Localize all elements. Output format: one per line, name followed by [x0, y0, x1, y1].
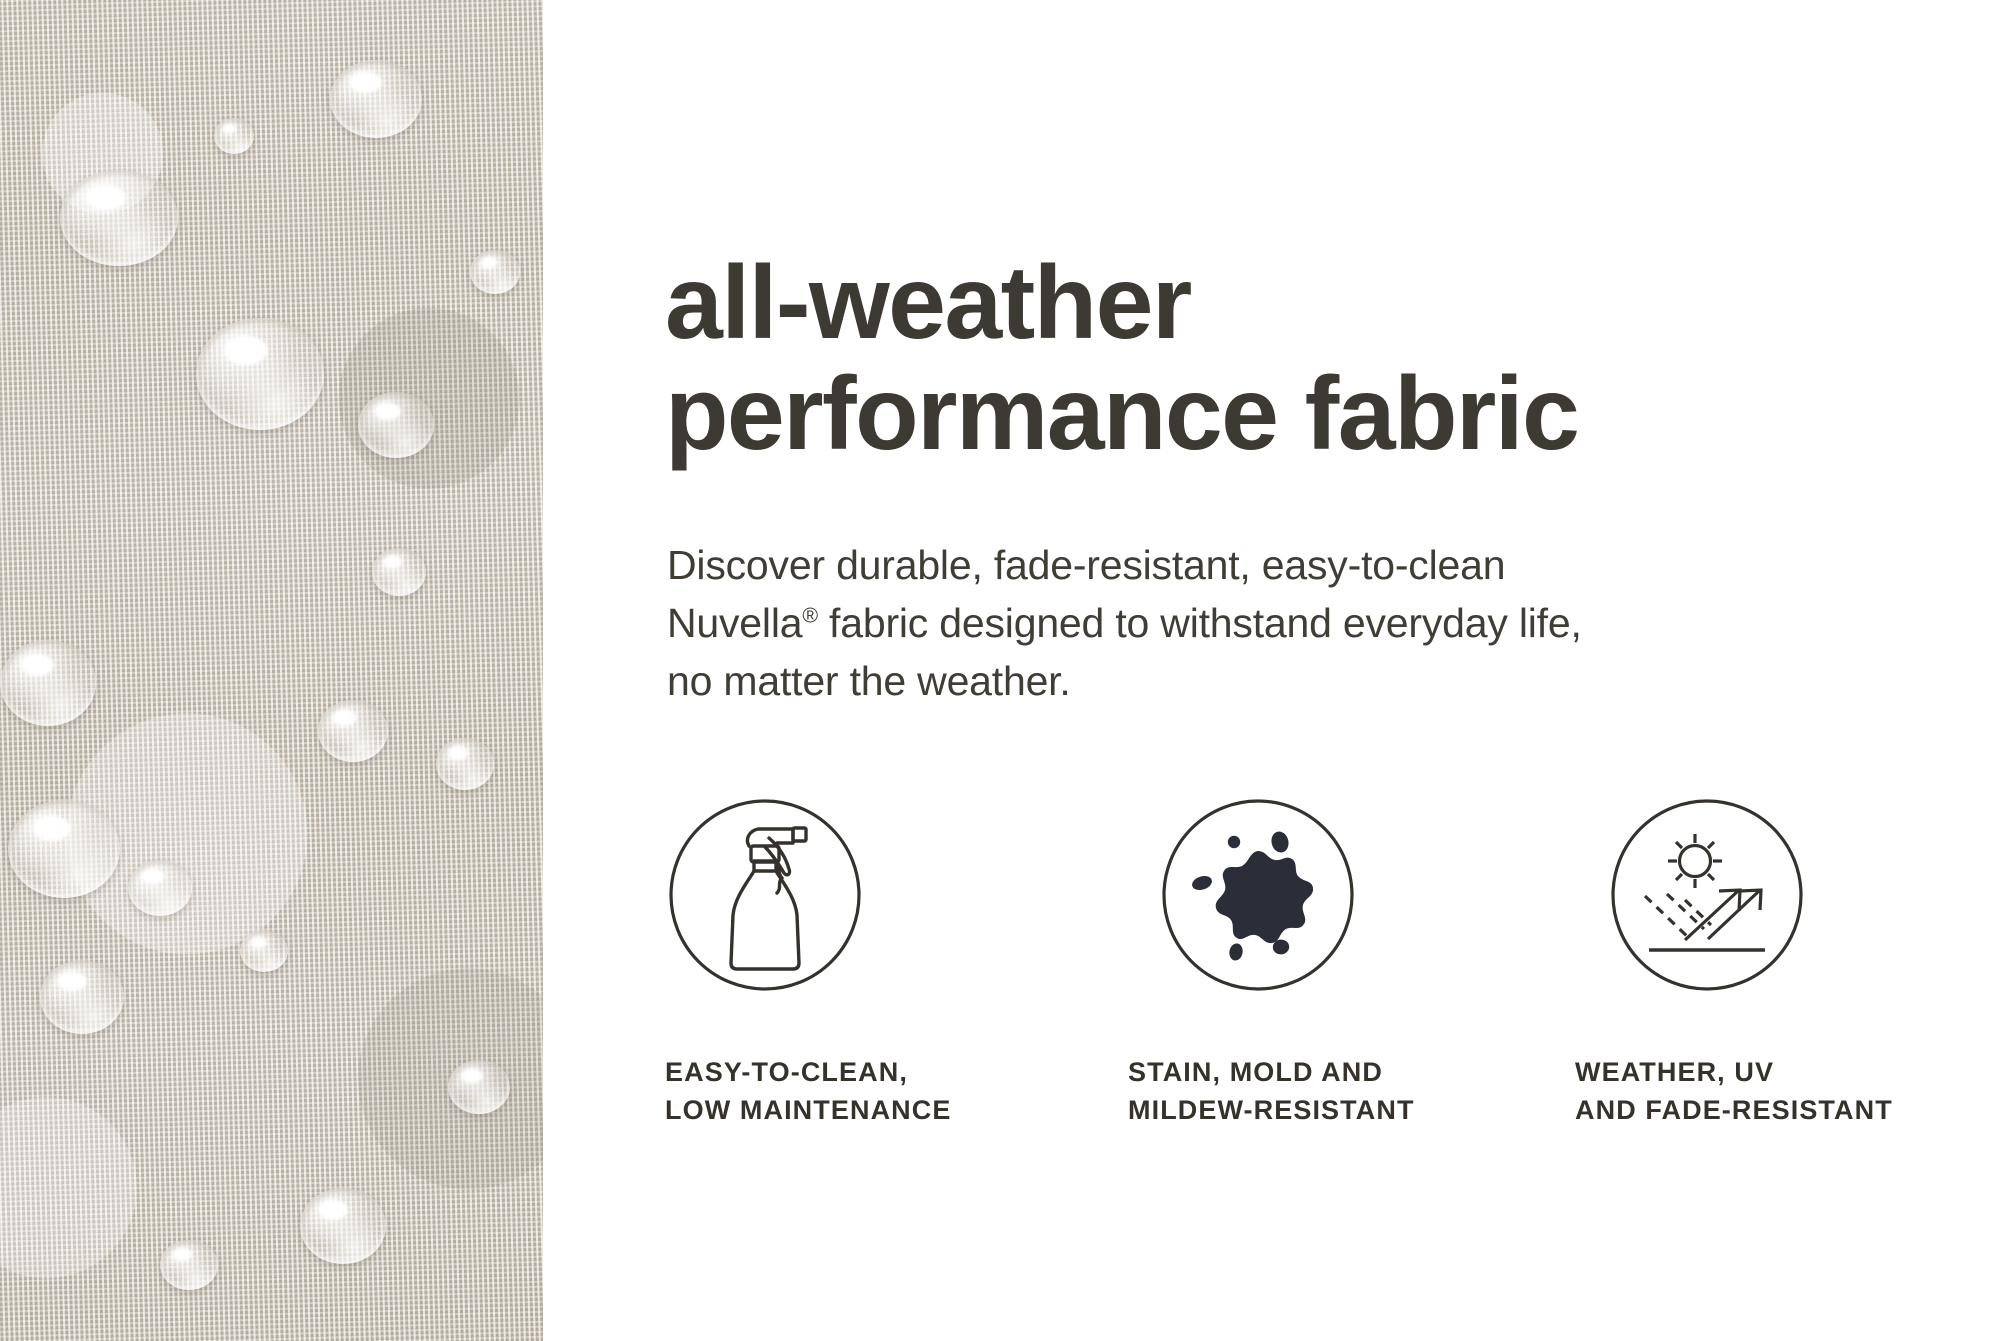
water-droplet	[330, 60, 422, 138]
description-line-2-rest: fabric designed to withstand everyday li…	[818, 600, 1582, 646]
water-droplet	[240, 930, 288, 972]
water-droplet	[8, 800, 120, 898]
description-line-1: Discover durable, fade-resistant, easy-t…	[667, 536, 1882, 594]
water-droplet	[214, 118, 254, 154]
feature-icon-row: EASY-TO-CLEAN, LOW MAINTENANCE	[665, 795, 1955, 1145]
description-paragraph: Discover durable, fade-resistant, easy-t…	[667, 536, 1882, 711]
water-droplet	[128, 860, 192, 916]
brand-name: Nuvella	[667, 600, 802, 646]
feature-caption-line-2: AND FADE-RESISTANT	[1575, 1091, 1955, 1129]
water-droplet	[60, 170, 178, 266]
registered-trademark-icon: ®	[802, 604, 818, 628]
water-droplet	[40, 960, 124, 1034]
content-pane: all-weather performance fabric Discover …	[665, 0, 1955, 1341]
water-droplet	[196, 318, 324, 430]
water-droplet	[372, 548, 426, 596]
feature-easy-to-clean: EASY-TO-CLEAN, LOW MAINTENANCE	[665, 795, 1045, 1130]
water-droplet	[358, 392, 434, 458]
description-line-2: Nuvella® fabric designed to withstand ev…	[667, 594, 1882, 652]
feature-stain-resistant: STAIN, MOLD AND MILDEW-RESISTANT	[1120, 795, 1500, 1130]
feature-caption: STAIN, MOLD AND MILDEW-RESISTANT	[1128, 1053, 1500, 1130]
feature-caption: EASY-TO-CLEAN, LOW MAINTENANCE	[665, 1053, 1045, 1130]
water-droplet	[160, 1240, 218, 1290]
water-droplet	[318, 700, 388, 762]
sun-uv-fade-icon	[1607, 795, 1807, 995]
page-title: all-weather performance fabric	[665, 248, 1955, 471]
spray-bottle-icon	[665, 795, 865, 995]
feature-caption: WEATHER, UV AND FADE-RESISTANT	[1575, 1053, 1955, 1130]
water-droplet	[300, 1188, 386, 1264]
feature-uv-fade-resistant: WEATHER, UV AND FADE-RESISTANT	[1575, 795, 1955, 1130]
feature-caption-line-1: STAIN, MOLD AND	[1128, 1053, 1500, 1091]
headline-line-2: performance fabric	[665, 359, 1955, 470]
fabric-photo	[0, 0, 543, 1341]
water-droplet	[436, 738, 494, 790]
water-droplet	[470, 250, 520, 294]
feature-caption-line-2: LOW MAINTENANCE	[665, 1091, 1045, 1129]
stain-splat-icon	[1158, 795, 1358, 995]
headline-line-1: all-weather	[665, 248, 1955, 359]
description-line-3: no matter the weather.	[667, 652, 1882, 710]
feature-caption-line-1: EASY-TO-CLEAN,	[665, 1053, 1045, 1091]
water-droplet	[0, 640, 96, 726]
water-droplet	[448, 1060, 510, 1114]
promo-banner: all-weather performance fabric Discover …	[0, 0, 2010, 1341]
feature-caption-line-2: MILDEW-RESISTANT	[1128, 1091, 1500, 1129]
feature-caption-line-1: WEATHER, UV	[1575, 1053, 1955, 1091]
